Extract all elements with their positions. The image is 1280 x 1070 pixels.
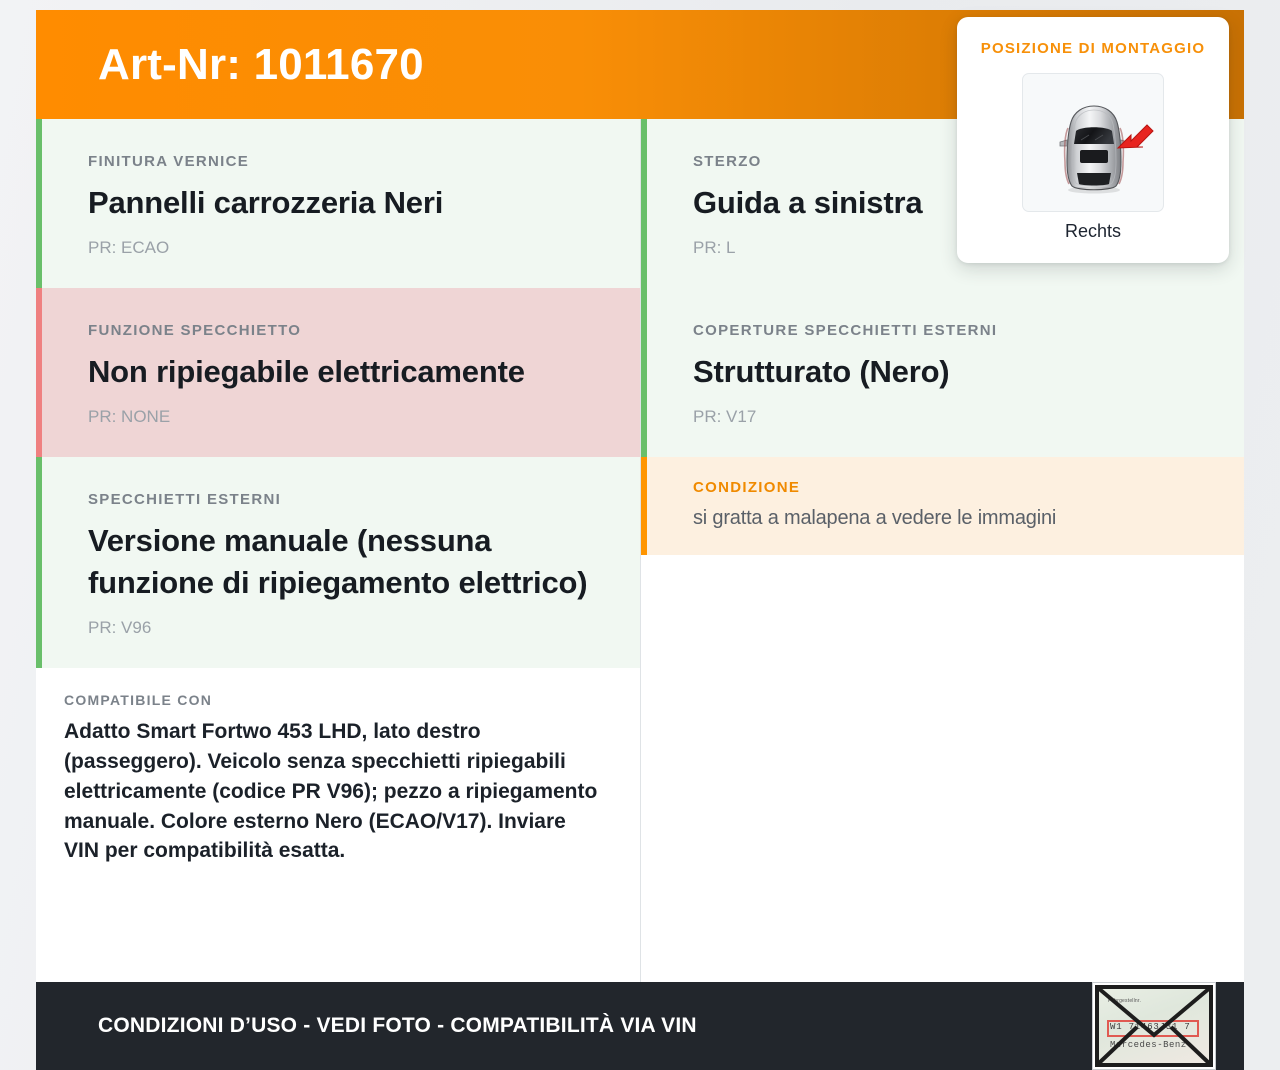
spec-card-finitura-vernice[interactable]: FINITURA VERNICE Pannelli carrozzeria Ne… <box>36 119 640 288</box>
spec-card-condizione[interactable]: CONDIZIONE si gratta a malapena a vedere… <box>641 457 1244 555</box>
spec-value: Pannelli carrozzeria Neri <box>88 182 596 225</box>
condition-text: si gratta a malapena a vedere le immagin… <box>693 505 1200 531</box>
spec-label: FUNZIONE SPECCHIETTO <box>88 322 596 339</box>
spec-pr-code: PR: ECAO <box>88 238 596 258</box>
footer-text: CONDIZIONI D’USO - VEDI FOTO - COMPATIBI… <box>98 1014 697 1038</box>
spec-label: FINITURA VERNICE <box>88 153 596 170</box>
spec-card-coperture-specchietti[interactable]: COPERTURE SPECCHIETTI ESTERNI Strutturat… <box>641 288 1244 457</box>
spec-pr-code: PR: V96 <box>88 618 596 638</box>
spec-value: Versione manuale (nessuna funzione di ri… <box>88 520 596 606</box>
compatibility-text: Adatto Smart Fortwo 453 LHD, lato destro… <box>64 717 600 866</box>
spec-label: COPERTURE SPECCHIETTI ESTERNI <box>693 322 1200 339</box>
spec-column-left: FINITURA VERNICE Pannelli carrozzeria Ne… <box>36 119 641 992</box>
car-top-view-icon <box>1023 74 1164 212</box>
condition-label: CONDIZIONE <box>693 479 1200 496</box>
mounting-position-caption: Rechts <box>957 221 1229 242</box>
spec-value: Non ripiegabile elettricamente <box>88 351 596 394</box>
mounting-position-title: POSIZIONE DI MONTAGGIO <box>957 40 1229 57</box>
compatibility-label: COMPATIBILE CON <box>64 692 600 708</box>
mounting-position-figure <box>1022 73 1164 212</box>
mounting-position-card[interactable]: POSIZIONE DI MONTAGGIO <box>957 17 1229 263</box>
spec-card-specchietti-esterni[interactable]: SPECCHIETTI ESTERNI Versione manuale (ne… <box>36 457 640 669</box>
broken-image-envelope-icon[interactable]: Fahrgestellnr. W1 71463J31 7 Mercedes-Be… <box>1092 982 1216 1070</box>
footer-bar: CONDIZIONI D’USO - VEDI FOTO - COMPATIBI… <box>36 982 1244 1070</box>
compatibility-section: COMPATIBILE CON Adatto Smart Fortwo 453 … <box>36 668 640 896</box>
page-title: Art-Nr: 1011670 <box>98 40 424 90</box>
page-root: Art-Nr: 1011670 FINITURA VERNICE Pannell… <box>0 0 1280 1070</box>
envelope-icon <box>1093 983 1215 1069</box>
spec-pr-code: PR: NONE <box>88 407 596 427</box>
spec-value: Strutturato (Nero) <box>693 351 1200 394</box>
spec-pr-code: PR: V17 <box>693 407 1200 427</box>
spec-card-funzione-specchietto[interactable]: FUNZIONE SPECCHIETTO Non ripiegabile ele… <box>36 288 640 457</box>
spec-label: SPECCHIETTI ESTERNI <box>88 491 596 508</box>
